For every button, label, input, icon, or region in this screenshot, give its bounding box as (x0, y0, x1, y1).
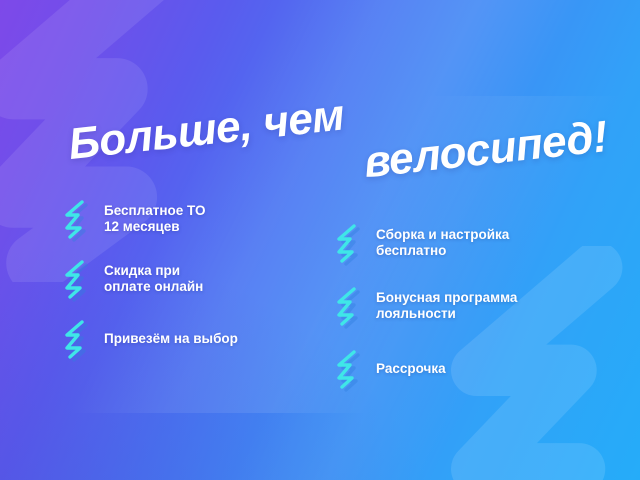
promo-banner: Больше, чем велосипед! Бесплатное ТО 12 … (0, 0, 640, 480)
feature-label: Привезём на выбор (104, 331, 238, 347)
lightning-bolt-icon (58, 318, 92, 360)
feature-label: Бесплатное ТО 12 месяцев (104, 203, 205, 235)
feature-item: Рассрочка (330, 348, 446, 390)
lightning-bolt-icon (330, 222, 364, 264)
lightning-bolt-icon (330, 285, 364, 327)
feature-item: Бесплатное ТО 12 месяцев (58, 198, 205, 240)
feature-item: Сборка и настройка бесплатно (330, 222, 509, 264)
feature-item: Скидка при оплате онлайн (58, 258, 203, 300)
feature-label: Скидка при оплате онлайн (104, 263, 203, 295)
feature-label: Рассрочка (376, 361, 446, 377)
features-area: Бесплатное ТО 12 месяцев Скидка при опла… (0, 0, 640, 480)
feature-label: Бонусная программа лояльности (376, 290, 517, 322)
feature-item: Привезём на выбор (58, 318, 238, 360)
feature-label: Сборка и настройка бесплатно (376, 227, 509, 259)
lightning-bolt-icon (330, 348, 364, 390)
feature-item: Бонусная программа лояльности (330, 285, 517, 327)
lightning-bolt-icon (58, 258, 92, 300)
lightning-bolt-icon (58, 198, 92, 240)
